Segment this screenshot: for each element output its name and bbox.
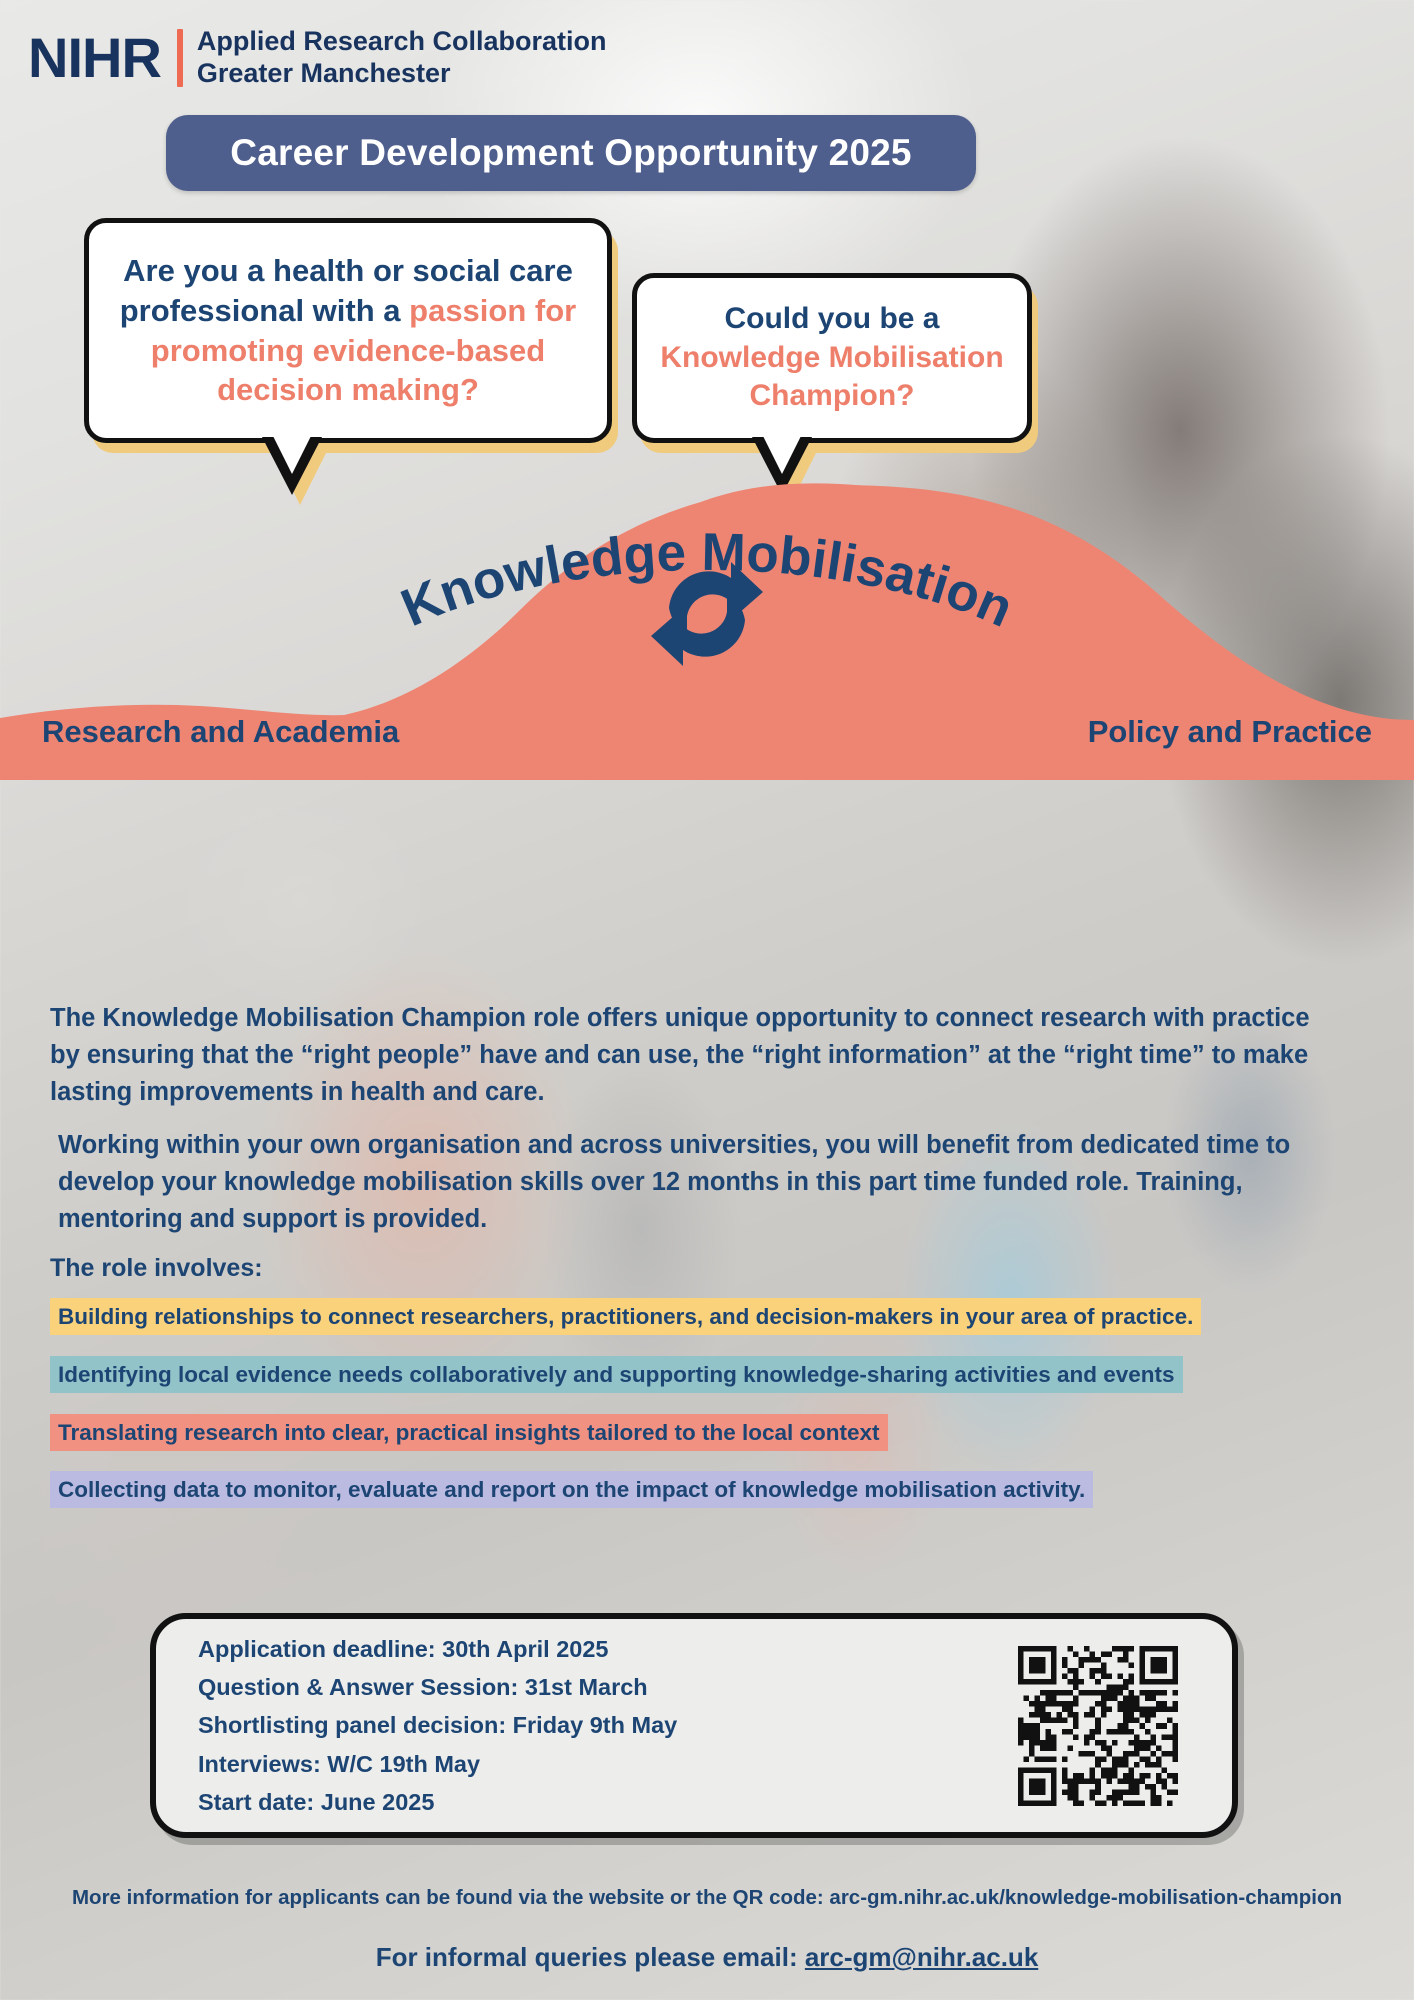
footer-email-line: For informal queries please email: arc-g… bbox=[0, 1942, 1414, 1973]
qr-code[interactable] bbox=[1018, 1646, 1178, 1806]
nihr-logo: NIHR Applied Research Collaboration Grea… bbox=[28, 26, 606, 90]
speech-bubble-2-text: Could you be a Knowledge Mobilisation Ch… bbox=[655, 300, 1009, 415]
footer-info: More information for applicants can be f… bbox=[0, 1886, 1414, 1910]
role-item-text: Identifying local evidence needs collabo… bbox=[50, 1356, 1183, 1393]
poster-title: Career Development Opportunity 2025 bbox=[230, 132, 911, 174]
speech-bubble-1: Are you a health or social care professi… bbox=[84, 218, 612, 443]
key-dates-list: Application deadline: 30th April 2025 Qu… bbox=[198, 1630, 677, 1821]
logo-subtitle: Applied Research Collaboration Greater M… bbox=[197, 26, 607, 90]
list-item: Building relationships to connect resear… bbox=[50, 1295, 1340, 1339]
speech-bubble-2: Could you be a Knowledge Mobilisation Ch… bbox=[632, 273, 1032, 443]
logo-subtitle-line2: Greater Manchester bbox=[197, 58, 607, 90]
list-item: Translating research into clear, practic… bbox=[50, 1411, 1340, 1455]
list-item: Question & Answer Session: 31st March bbox=[198, 1668, 677, 1706]
knowledge-mobilisation-arch: Knowledge Mobilisation Research and Acad… bbox=[0, 470, 1414, 780]
email-link[interactable]: arc-gm@nihr.ac.uk bbox=[805, 1942, 1038, 1972]
list-item: Shortlisting panel decision: Friday 9th … bbox=[198, 1706, 677, 1744]
footer-email-prefix: For informal queries please email: bbox=[376, 1942, 805, 1972]
paragraph-1: The Knowledge Mobilisation Champion role… bbox=[50, 1000, 1340, 1111]
list-item: Identifying local evidence needs collabo… bbox=[50, 1353, 1340, 1397]
key-dates-box: Application deadline: 30th April 2025 Qu… bbox=[150, 1613, 1238, 1838]
speech-bubble-1-text: Are you a health or social care professi… bbox=[111, 251, 585, 410]
arch-label-right: Policy and Practice bbox=[1088, 714, 1372, 750]
title-banner: Career Development Opportunity 2025 bbox=[166, 115, 976, 191]
role-item-text: Collecting data to monitor, evaluate and… bbox=[50, 1471, 1093, 1508]
bubble2-part1: Could you be a bbox=[724, 302, 939, 335]
nihr-wordmark: NIHR bbox=[28, 30, 161, 86]
logo-divider-rule bbox=[177, 29, 183, 87]
list-item: Collecting data to monitor, evaluate and… bbox=[50, 1468, 1340, 1512]
arch-label-left: Research and Academia bbox=[42, 714, 399, 750]
role-items-list: Building relationships to connect resear… bbox=[50, 1295, 1340, 1513]
body-copy: The Knowledge Mobilisation Champion role… bbox=[50, 1000, 1340, 1526]
list-item: Start date: June 2025 bbox=[198, 1783, 677, 1821]
role-item-text: Building relationships to connect resear… bbox=[50, 1298, 1201, 1335]
role-involves-heading: The role involves: bbox=[50, 1254, 1340, 1283]
logo-subtitle-line1: Applied Research Collaboration bbox=[197, 26, 607, 58]
list-item: Interviews: W/C 19th May bbox=[198, 1745, 677, 1783]
list-item: Application deadline: 30th April 2025 bbox=[198, 1630, 677, 1668]
bubble2-part2: Knowledge Mobilisation Champion? bbox=[660, 341, 1003, 412]
paragraph-2: Working within your own organisation and… bbox=[50, 1127, 1340, 1238]
role-item-text: Translating research into clear, practic… bbox=[50, 1414, 888, 1451]
